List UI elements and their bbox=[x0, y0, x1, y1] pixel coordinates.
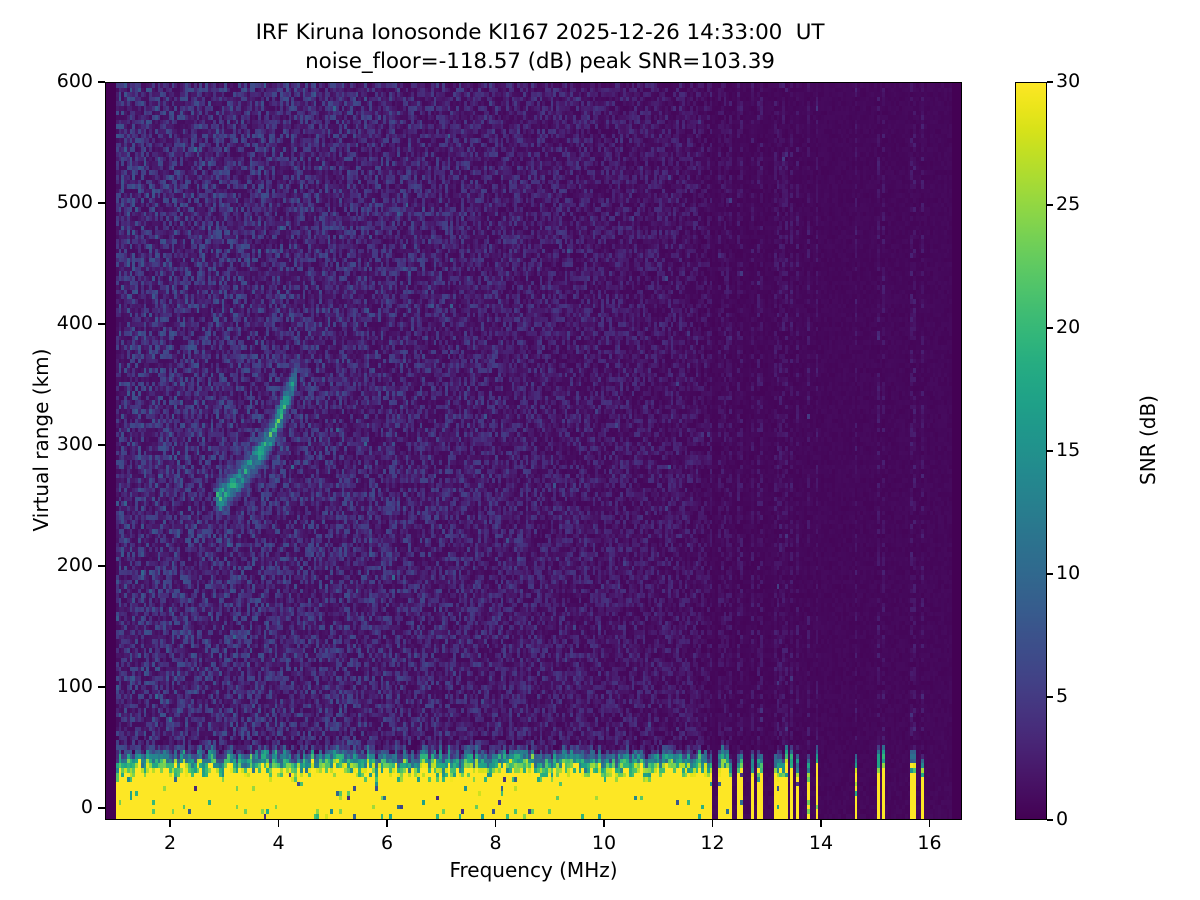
colorbar-tick-mark bbox=[1047, 696, 1053, 697]
x-tick-mark bbox=[386, 820, 387, 827]
x-tick-mark bbox=[712, 820, 713, 827]
y-tick-label: 0 bbox=[81, 798, 93, 817]
title-line-2: noise_floor=-118.57 (dB) peak SNR=103.39 bbox=[305, 49, 775, 74]
x-tick-mark bbox=[169, 820, 170, 827]
y-tick-label: 400 bbox=[57, 314, 93, 333]
ionogram-figure: IRF Kiruna Ionosonde KI167 2025-12-26 14… bbox=[0, 0, 1200, 900]
x-tick-label: 8 bbox=[456, 832, 536, 854]
y-tick-label: 100 bbox=[57, 677, 93, 696]
y-tick-label: 300 bbox=[57, 435, 93, 454]
x-tick-label: 6 bbox=[347, 832, 427, 854]
x-tick-label: 14 bbox=[781, 832, 861, 854]
y-tick-label: 200 bbox=[57, 556, 93, 575]
x-axis-label: Frequency (MHz) bbox=[105, 858, 962, 882]
colorbar-tick-mark bbox=[1047, 327, 1053, 328]
ionogram-heatmap bbox=[106, 83, 962, 820]
x-tick-mark bbox=[929, 820, 930, 827]
ionogram-plot-area[interactable] bbox=[105, 82, 962, 820]
x-tick-label: 4 bbox=[239, 832, 319, 854]
x-tick-mark bbox=[603, 820, 604, 827]
figure-title: IRF Kiruna Ionosonde KI167 2025-12-26 14… bbox=[0, 18, 1080, 76]
colorbar-tick-label: 25 bbox=[1056, 195, 1080, 214]
colorbar-tick-mark bbox=[1047, 204, 1053, 205]
colorbar-label: SNR (dB) bbox=[1136, 320, 1160, 560]
y-tick-mark bbox=[98, 202, 105, 203]
y-tick-mark bbox=[98, 444, 105, 445]
y-tick-label: 600 bbox=[57, 72, 93, 91]
colorbar-tick-mark bbox=[1047, 81, 1053, 82]
colorbar-tick-label: 5 bbox=[1056, 687, 1068, 706]
x-tick-mark bbox=[278, 820, 279, 827]
colorbar-tick-label: 20 bbox=[1056, 318, 1080, 337]
colorbar-tick-label: 10 bbox=[1056, 564, 1080, 583]
colorbar-gradient bbox=[1016, 83, 1046, 819]
title-line-1: IRF Kiruna Ionosonde KI167 2025-12-26 14… bbox=[256, 20, 825, 45]
colorbar-tick-label: 15 bbox=[1056, 441, 1080, 460]
y-tick-mark bbox=[98, 323, 105, 324]
colorbar-tick-mark bbox=[1047, 450, 1053, 451]
x-tick-label: 16 bbox=[889, 832, 969, 854]
y-tick-mark bbox=[98, 807, 105, 808]
colorbar[interactable] bbox=[1015, 82, 1047, 820]
x-tick-label: 10 bbox=[564, 832, 644, 854]
colorbar-tick-label: 0 bbox=[1056, 810, 1068, 829]
x-tick-label: 12 bbox=[672, 832, 752, 854]
x-tick-label: 2 bbox=[130, 832, 210, 854]
colorbar-tick-mark bbox=[1047, 819, 1053, 820]
y-tick-mark bbox=[98, 686, 105, 687]
y-tick-label: 500 bbox=[57, 193, 93, 212]
x-tick-mark bbox=[495, 820, 496, 827]
x-tick-mark bbox=[820, 820, 821, 827]
colorbar-tick-mark bbox=[1047, 573, 1053, 574]
y-tick-mark bbox=[98, 81, 105, 82]
y-tick-mark bbox=[98, 565, 105, 566]
y-axis-label: Virtual range (km) bbox=[29, 320, 53, 560]
colorbar-tick-label: 30 bbox=[1056, 72, 1080, 91]
